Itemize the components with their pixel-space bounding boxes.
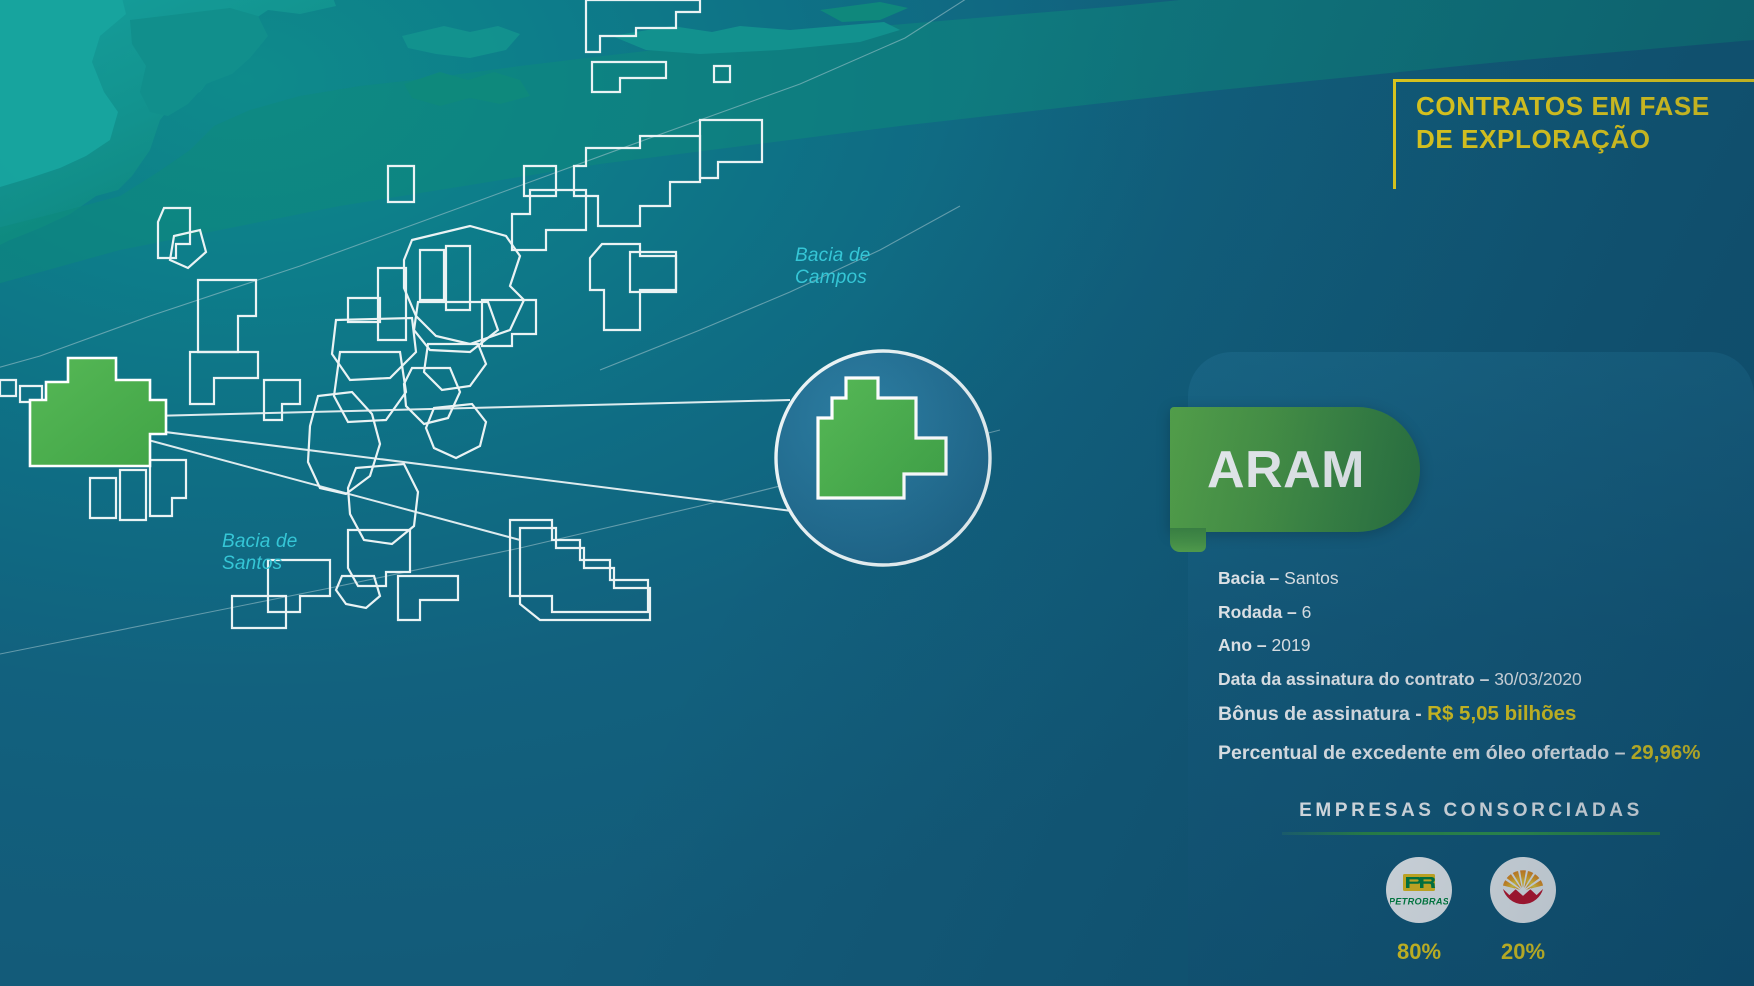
magnifier-inset (776, 351, 990, 565)
detail-row-bacia: Bacia – Santos (1218, 570, 1738, 588)
detail-value: 6 (1302, 602, 1312, 622)
detail-row-ano: Ano – 2019 (1218, 637, 1738, 655)
block-name-banner: ARAM (1170, 407, 1420, 532)
consortium-company-petrobras: PETROBRAS 80% (1376, 857, 1462, 965)
ribbon-fold-tab (1170, 528, 1206, 552)
detail-key: Bônus de assinatura - (1218, 703, 1422, 725)
header-bracket-horizontal (1393, 79, 1754, 82)
ribbon-shape: ARAM (1170, 407, 1420, 532)
contract-details-list: Bacia – Santos Rodada – 6 Ano – 2019 Dat… (1218, 570, 1738, 781)
petrobras-share: 80% (1376, 939, 1462, 965)
detail-value-highlight: 29,96% (1631, 741, 1701, 764)
consortium-divider (1282, 832, 1660, 835)
consortium-logo-row: PETROBRAS 80% (1188, 857, 1754, 965)
basin-label-santos: Bacia de Santos (222, 531, 298, 576)
detail-key: Data da assinatura do contrato – (1218, 669, 1489, 689)
detail-row-excedente-oleo: Percentual de excedente em óleo ofertado… (1218, 743, 1738, 764)
infographic-stage: Bacia de Campos Bacia de Santos CONTRATO… (0, 0, 1754, 986)
aram-block-highlight (30, 358, 166, 466)
header-bracket-vertical (1393, 79, 1396, 189)
detail-value: 2019 (1272, 635, 1311, 655)
detail-value: 30/03/2020 (1494, 669, 1582, 689)
detail-row-data-assinatura: Data da assinatura do contrato – 30/03/2… (1218, 671, 1738, 689)
page-title: CONTRATOS EM FASE DE EXPLORAÇÃO (1416, 90, 1710, 157)
detail-key: Ano – (1218, 635, 1267, 655)
block-name-label: ARAM (1207, 440, 1365, 500)
detail-row-bonus: Bônus de assinatura - R$ 5,05 bilhões (1218, 704, 1738, 725)
consortium-heading: EMPRESAS CONSORCIADAS (1188, 800, 1754, 822)
petrobras-logo: PETROBRAS (1386, 857, 1452, 923)
detail-key: Rodada – (1218, 602, 1297, 622)
cnpc-share: 20% (1480, 939, 1566, 965)
svg-text:PETROBRAS: PETROBRAS (1390, 897, 1448, 907)
detail-key: Percentual de excedente em óleo ofertado… (1218, 742, 1625, 764)
basin-label-campos: Bacia de Campos (795, 245, 871, 290)
detail-key: Bacia – (1218, 568, 1279, 588)
detail-row-rodada: Rodada – 6 (1218, 604, 1738, 622)
petrobras-logo-icon: PETROBRAS (1390, 861, 1448, 919)
consortium-company-cnpc: 20% (1480, 857, 1566, 965)
cnpc-logo-icon (1494, 861, 1552, 919)
detail-value-highlight: R$ 5,05 bilhões (1427, 702, 1576, 725)
cnpc-logo (1490, 857, 1556, 923)
detail-value: Santos (1284, 568, 1338, 588)
consortium-section: EMPRESAS CONSORCIADAS PETROBRAS 80% (1188, 800, 1754, 965)
